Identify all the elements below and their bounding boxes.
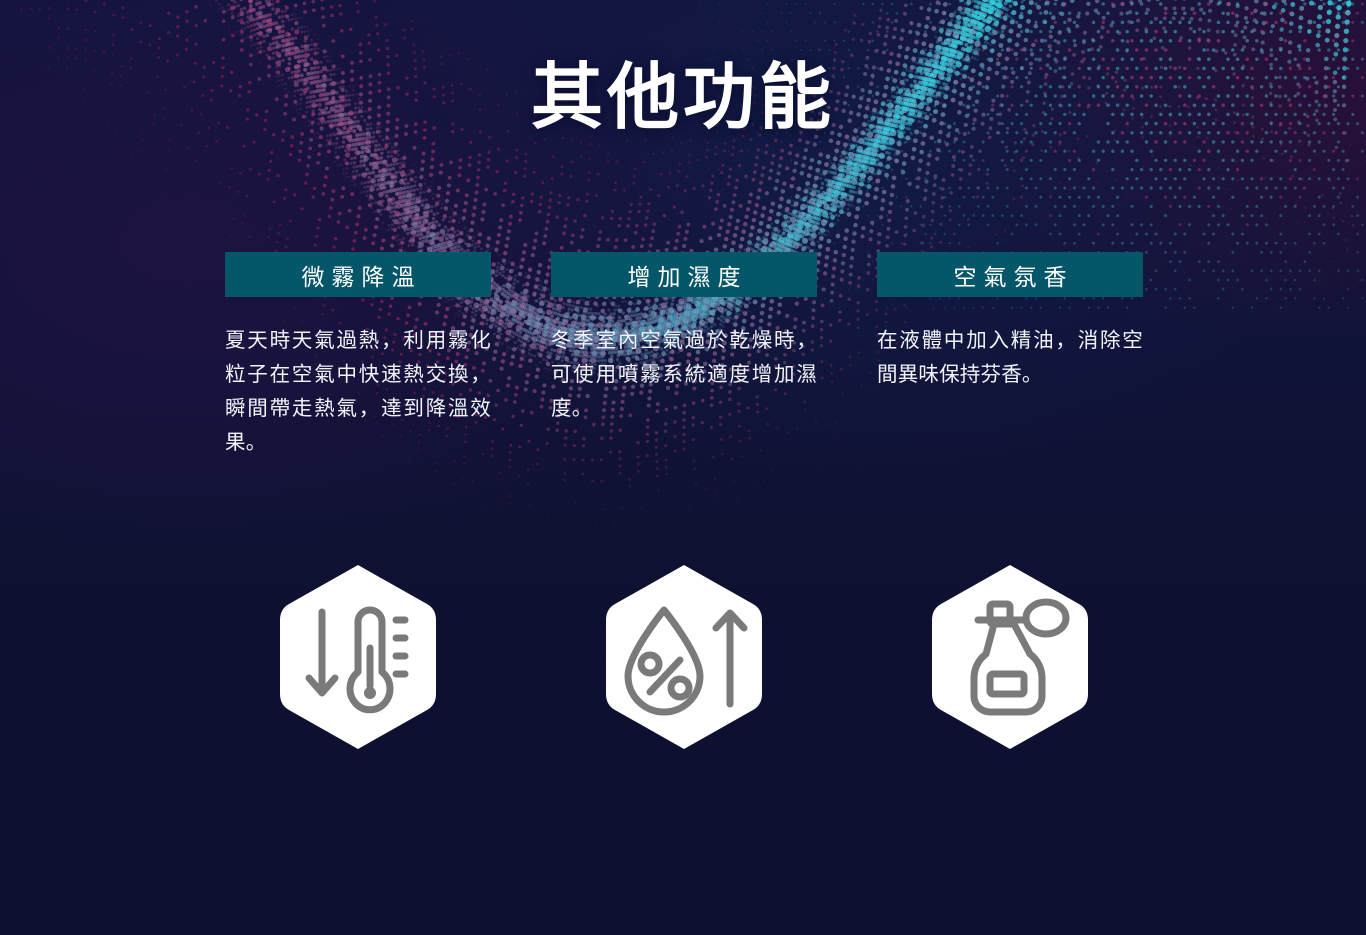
feature-heading-bar-3: 空氣氛香 bbox=[877, 252, 1143, 297]
feature-columns: 微霧降溫 夏天時天氣過熱，利用霧化粒子在空氣中快速熱交換，瞬間帶走熱氣，達到降溫… bbox=[225, 252, 1145, 460]
feature-column-2: 增加濕度 冬季室內空氣過於乾燥時，可使用噴霧系統適度增加濕度。 bbox=[551, 252, 817, 460]
feature-heading-bar-2: 增加濕度 bbox=[551, 252, 817, 297]
feature-column-3: 空氣氛香 在液體中加入精油，消除空間異味保持芬香。 bbox=[877, 252, 1143, 460]
feature-heading-bar-1: 微霧降溫 bbox=[225, 252, 491, 297]
feature-section: 其他功能 微霧降溫 夏天時天氣過熱，利用霧化粒子在空氣中快速熱交換，瞬間帶走熱氣… bbox=[0, 0, 1366, 935]
feature-heading-label-3: 空氣氛香 bbox=[947, 258, 1074, 292]
feature-icon-cell-1 bbox=[225, 562, 491, 752]
feature-body-3: 在液體中加入精油，消除空間異味保持芬香。 bbox=[877, 324, 1143, 392]
humidity-droplet-up-icon bbox=[602, 562, 766, 752]
feature-heading-label-1: 微霧降溫 bbox=[295, 258, 422, 292]
feature-icon-cell-2 bbox=[551, 562, 817, 752]
feature-body-2: 冬季室內空氣過於乾燥時，可使用噴霧系統適度增加濕度。 bbox=[551, 324, 817, 426]
page-title: 其他功能 bbox=[0, 62, 1366, 134]
thermometer-down-icon bbox=[276, 562, 440, 752]
feature-column-1: 微霧降溫 夏天時天氣過熱，利用霧化粒子在空氣中快速熱交換，瞬間帶走熱氣，達到降溫… bbox=[225, 252, 491, 460]
feature-heading-label-2: 增加濕度 bbox=[621, 258, 748, 292]
perfume-atomizer-icon bbox=[928, 562, 1092, 752]
feature-body-1: 夏天時天氣過熱，利用霧化粒子在空氣中快速熱交換，瞬間帶走熱氣，達到降溫效果。 bbox=[225, 324, 491, 460]
feature-icon-cell-3 bbox=[877, 562, 1143, 752]
feature-icons bbox=[225, 562, 1145, 752]
